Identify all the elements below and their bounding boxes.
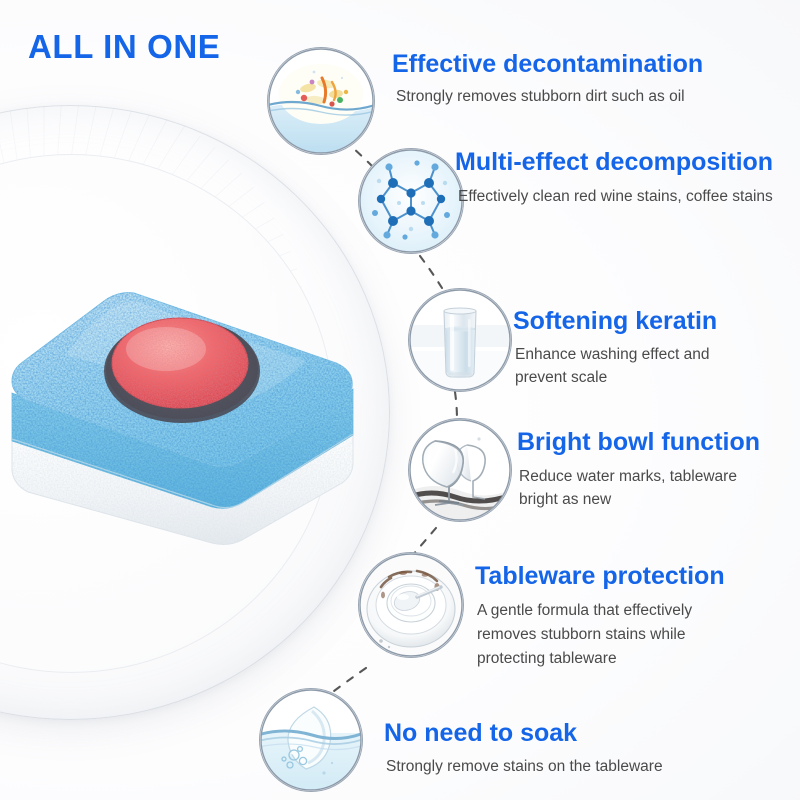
feature-description: Strongly removes stubborn dirt such as o… — [396, 86, 685, 107]
feature-description-line: Strongly remove stains on the tableware — [386, 756, 663, 777]
feature-description-line: Effectively clean red wine stains, coffe… — [458, 186, 773, 207]
infographic-canvas: ALL IN ONE — [0, 0, 800, 800]
feature-description-line: A gentle formula that effectively — [477, 599, 692, 623]
feature-heading: Tableware protection — [475, 562, 725, 591]
feature-description: Effectively clean red wine stains, coffe… — [458, 186, 773, 207]
feature-heading: Multi-effect decomposition — [455, 148, 773, 177]
feature-description: Enhance washing effect and prevent scale — [515, 343, 709, 389]
dish-in-water-icon — [259, 688, 363, 792]
molecule-icon — [358, 148, 464, 254]
feature-heading: Bright bowl function — [517, 428, 760, 457]
feature-description-line: Strongly removes stubborn dirt such as o… — [396, 86, 685, 107]
glass-of-water-icon — [408, 288, 512, 392]
feature-description-line: Reduce water marks, tableware — [519, 465, 737, 488]
feature-description-line: Enhance washing effect and — [515, 343, 709, 366]
plate-and-bowl-icon — [358, 552, 464, 658]
feature-description: Reduce water marks, tableware bright as … — [519, 465, 737, 511]
bowl-of-food-scraps-icon — [267, 47, 375, 155]
feature-description: A gentle formula that effectively remove… — [477, 599, 692, 671]
feature-heading: Effective decontamination — [392, 50, 703, 79]
feature-description-line: protecting tableware — [477, 647, 692, 671]
wine-glasses-icon — [408, 418, 512, 522]
feature-heading: No need to soak — [384, 719, 577, 748]
feature-description: Strongly remove stains on the tableware — [386, 756, 663, 777]
feature-description-line: prevent scale — [515, 366, 709, 389]
dishwasher-tablet — [6, 243, 361, 548]
feature-description-line: removes stubborn stains while — [477, 623, 692, 647]
feature-heading: Softening keratin — [513, 307, 717, 336]
feature-description-line: bright as new — [519, 488, 737, 511]
page-title: ALL IN ONE — [28, 28, 220, 66]
